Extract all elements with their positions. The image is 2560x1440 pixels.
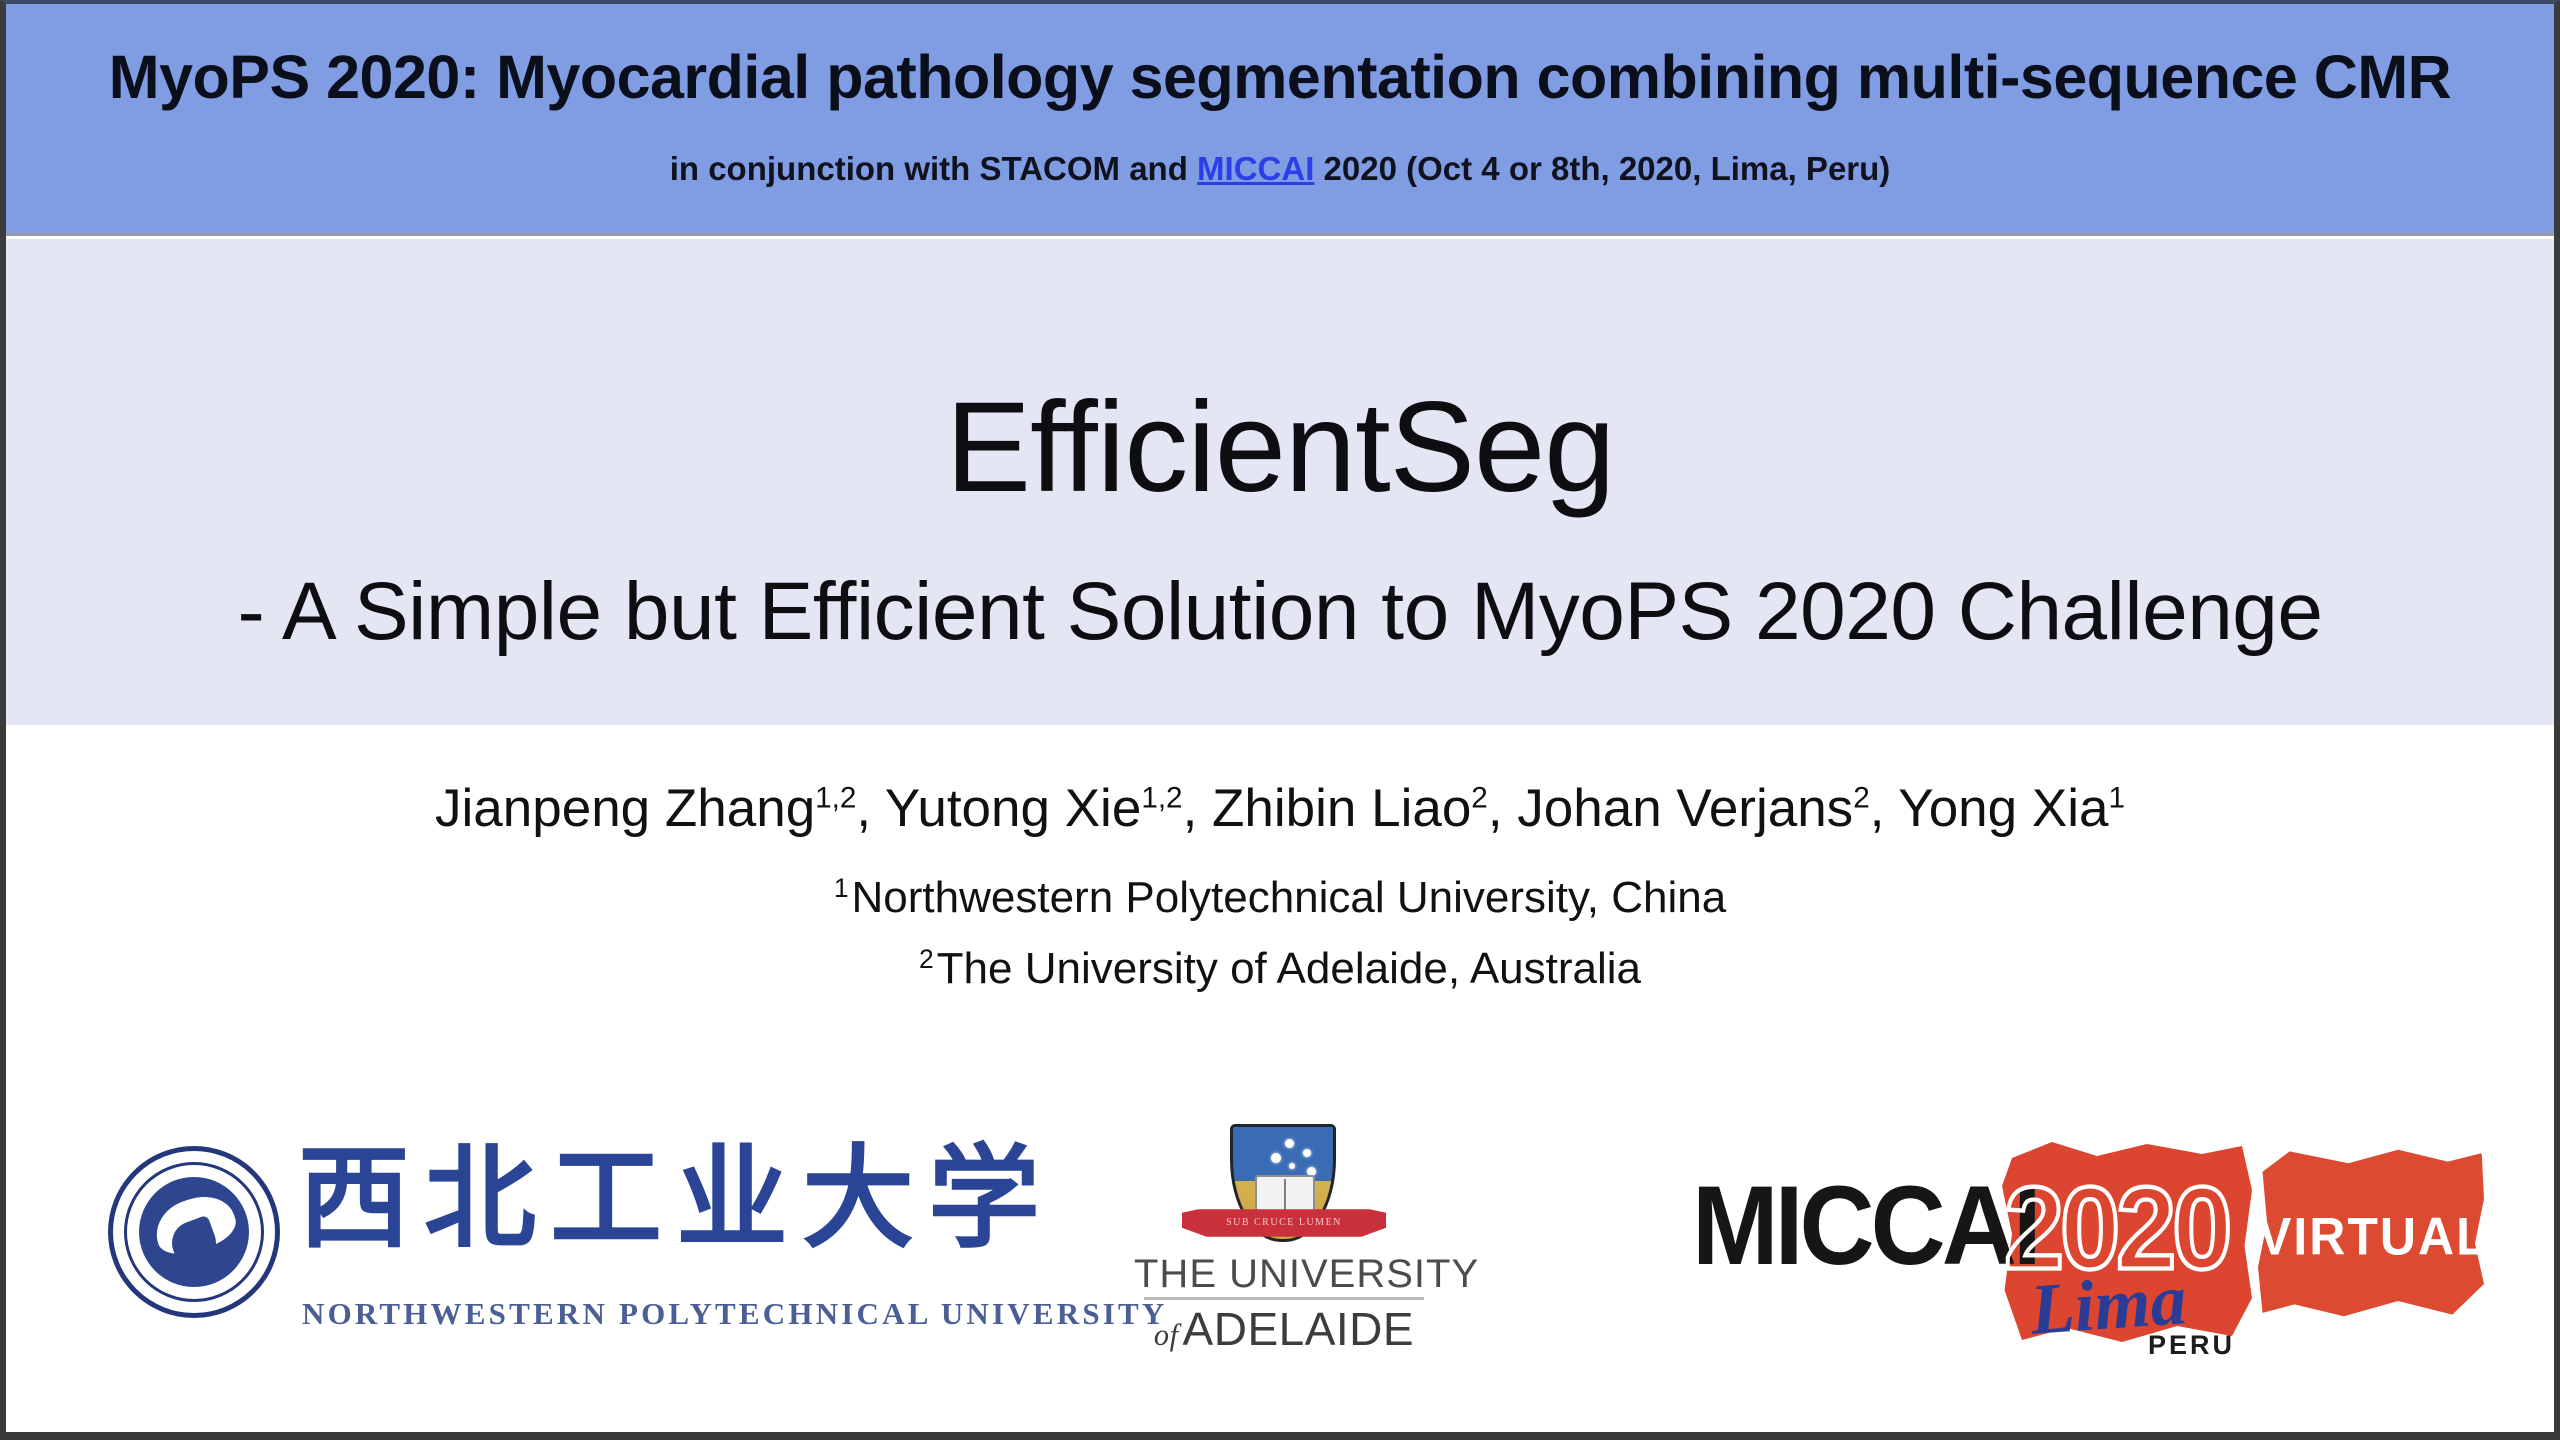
southern-cross-star xyxy=(1271,1153,1281,1163)
southern-cross-star xyxy=(1289,1163,1295,1169)
adelaide-motto-text: SUB CRUCE LUMEN xyxy=(1182,1217,1386,1228)
workshop-subtitle: in conjunction with STACOM and MICCAI 20… xyxy=(6,150,2554,188)
author-separator: , xyxy=(1183,779,1212,838)
author-entry: Johan Verjans2 xyxy=(1517,779,1869,838)
npu-logo: 西北工业大学 NORTHWESTERN POLYTECHNICAL UNIVER… xyxy=(102,1128,932,1343)
affiliation-text: The University of Adelaide, Australia xyxy=(937,944,1641,993)
miccai-logo: MICCAI 2020 Lima PERU VIRTUAL xyxy=(1692,1122,2482,1352)
adelaide-name-line-2: ofADELAIDE xyxy=(1134,1302,1434,1356)
author-name: Yutong Xie xyxy=(885,779,1141,838)
affiliation-marker: 1 xyxy=(834,873,849,903)
logos-row: 西北工业大学 NORTHWESTERN POLYTECHNICAL UNIVER… xyxy=(6,1122,2554,1362)
author-separator: , xyxy=(856,779,885,838)
adelaide-name-line-1: THE UNIVERSITY xyxy=(1134,1252,1434,1297)
author-entry: Zhibin Liao2 xyxy=(1212,779,1488,838)
page-subtitle: - A Simple but Efficient Solution to Myo… xyxy=(6,571,2554,653)
page-title: EfficientSeg xyxy=(6,384,2554,512)
miccai-wordmark: MICCAI xyxy=(1692,1170,2038,1282)
workshop-header-banner: MyoPS 2020: Myocardial pathology segment… xyxy=(6,4,2554,236)
affiliation-line-2: 2The University of Adelaide, Australia xyxy=(6,943,2554,996)
author-name: Jianpeng Zhang xyxy=(435,779,815,838)
adelaide-motto-ribbon: SUB CRUCE LUMEN xyxy=(1182,1208,1386,1238)
workshop-title: MyoPS 2020: Myocardial pathology segment… xyxy=(6,42,2554,112)
miccai-country: PERU xyxy=(2148,1330,2235,1361)
author-affiliation-marker: 2 xyxy=(1853,781,1870,814)
npu-chinese-name: 西北工业大学 xyxy=(298,1128,1054,1271)
author-affiliation-marker: 1 xyxy=(2108,781,2125,814)
open-book-icon xyxy=(1255,1175,1315,1215)
npu-seal-inner-mark xyxy=(139,1177,249,1287)
npu-seal-icon xyxy=(108,1146,280,1318)
authors-line: Jianpeng Zhang1,2, Yutong Xie1,2, Zhibin… xyxy=(6,779,2554,838)
author-entry: Yong Xia1 xyxy=(1898,779,2125,838)
author-affiliation-marker: 1,2 xyxy=(1141,781,1182,814)
author-affiliation-marker: 2 xyxy=(1471,781,1488,814)
workshop-subtitle-prefix: in conjunction with STACOM and xyxy=(670,150,1197,187)
author-entry: Jianpeng Zhang1,2 xyxy=(435,779,856,838)
author-name: Johan Verjans xyxy=(1517,779,1853,838)
author-name: Yong Xia xyxy=(1898,779,2108,838)
southern-cross-star xyxy=(1285,1139,1294,1148)
miccai-virtual-badge: VIRTUAL xyxy=(2258,1206,2484,1267)
adelaide-logo: SUB CRUCE LUMEN THE UNIVERSITY ofADELAID… xyxy=(1134,1122,1434,1352)
author-affiliation-marker: 1,2 xyxy=(815,781,856,814)
author-entry: Yutong Xie1,2 xyxy=(885,779,1183,838)
authors-block: Jianpeng Zhang1,2, Yutong Xie1,2, Zhibin… xyxy=(6,779,2554,996)
workshop-subtitle-suffix: 2020 (Oct 4 or 8th, 2020, Lima, Peru) xyxy=(1314,150,1890,187)
title-slide: MyoPS 2020: Myocardial pathology segment… xyxy=(0,0,2560,1440)
adelaide-divider xyxy=(1144,1297,1424,1300)
paper-title-band: EfficientSeg - A Simple but Efficient So… xyxy=(6,239,2554,725)
adelaide-city-name: ADELAIDE xyxy=(1183,1303,1415,1355)
author-separator: , xyxy=(1870,779,1899,838)
southern-cross-star xyxy=(1303,1149,1311,1157)
adelaide-name-of: of xyxy=(1154,1318,1179,1352)
affiliation-text: Northwestern Polytechnical University, C… xyxy=(852,873,1727,922)
npu-english-name: NORTHWESTERN POLYTECHNICAL UNIVERSITY xyxy=(302,1296,1168,1332)
author-separator: , xyxy=(1488,779,1517,838)
miccai-link[interactable]: MICCAI xyxy=(1197,150,1314,187)
affiliation-line-1: 1Northwestern Polytechnical University, … xyxy=(6,872,2554,925)
affiliation-marker: 2 xyxy=(919,944,934,974)
author-name: Zhibin Liao xyxy=(1212,779,1471,838)
